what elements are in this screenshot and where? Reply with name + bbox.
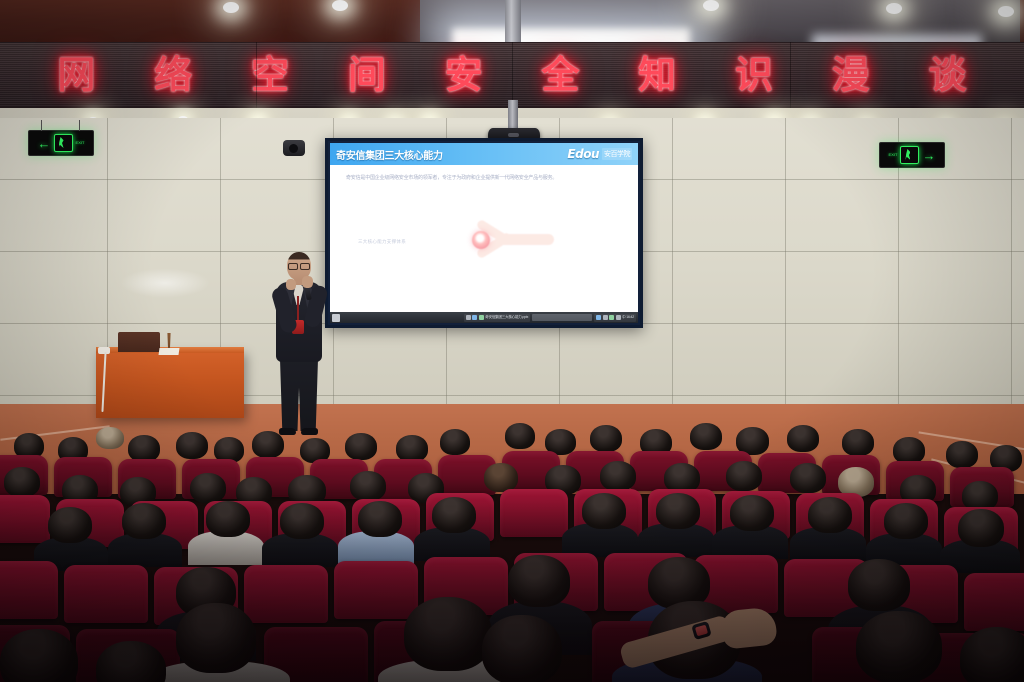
audience-head <box>396 435 428 462</box>
slide: 奇安信集团三大核心能力 Edou 安百学院 奇安信是中国企业级网络安全市场的领军… <box>330 143 638 323</box>
tray-icon[interactable] <box>616 315 621 320</box>
audience-head <box>440 429 470 455</box>
spotlight <box>998 6 1014 17</box>
running-man-icon <box>54 134 73 152</box>
audience-head <box>842 429 874 456</box>
arrow-shaft <box>496 234 554 245</box>
led-char: 网 <box>57 56 95 94</box>
audience-head <box>0 629 78 682</box>
spotlight <box>223 2 239 13</box>
audience-head <box>505 423 535 449</box>
arrow-node-icon <box>472 231 490 249</box>
audience-head <box>582 493 626 529</box>
banner-seam <box>256 42 257 108</box>
audience-head <box>484 463 518 492</box>
audience-head <box>726 461 762 491</box>
theater-seat <box>334 561 418 619</box>
audience-head <box>590 425 622 452</box>
spotlight <box>703 0 719 11</box>
audience-head <box>690 423 722 450</box>
tray-icon[interactable] <box>596 315 601 320</box>
audience-head <box>790 463 826 493</box>
led-char: 全 <box>541 56 579 94</box>
taskbar-window-label: 奇安信集团三大核心能力.pptx <box>485 315 528 320</box>
edou-logo-cn: 安百学院 <box>602 148 632 160</box>
tray-icon[interactable] <box>609 315 614 320</box>
audience-head <box>787 425 819 452</box>
led-char: 漫 <box>832 56 870 94</box>
theater-seat <box>244 565 328 623</box>
audience-head <box>345 433 377 460</box>
theater-seat <box>500 489 568 537</box>
audience-head <box>96 427 124 449</box>
papers <box>159 348 180 355</box>
audience-head <box>808 497 852 533</box>
auditorium-photo: 网 络 空 间 安 全 知 识 漫 谈 ← EXIT EXIT → <box>0 0 1024 682</box>
banner-seam <box>790 42 791 108</box>
led-char: 知 <box>638 56 676 94</box>
system-tray[interactable]: 中 16:42 <box>594 314 636 322</box>
audience-head <box>848 559 910 611</box>
sign-hanger <box>41 120 42 131</box>
tray-icon[interactable] <box>603 315 608 320</box>
slide-lead-text: 奇安信是中国企业级网络安全市场的领军者，专注于为政府和企业提供新一代网络安全产品… <box>346 175 624 183</box>
app-icon[interactable] <box>466 315 471 320</box>
banner-seam <box>512 42 513 108</box>
audience-head <box>404 597 492 671</box>
wall-speaker <box>283 140 305 156</box>
wall-light-reflection <box>120 268 210 298</box>
audience-head <box>358 501 402 537</box>
right-arrow-icon: → <box>922 149 935 162</box>
audience-head <box>4 467 40 497</box>
right-exit-sign: EXIT → <box>879 142 945 168</box>
left-arrow-icon: ← <box>38 137 51 150</box>
audience-head <box>128 435 160 462</box>
led-char: 络 <box>154 56 192 94</box>
arrow-graphic <box>468 217 560 263</box>
theater-seat <box>0 495 50 543</box>
audience-head <box>856 611 942 682</box>
speaker-lanyard <box>297 296 299 322</box>
audience-head <box>252 431 284 458</box>
audience-head <box>884 503 928 539</box>
taskbar-window-group[interactable]: 奇安信集团三大核心能力.pptx <box>464 314 530 322</box>
audience-head <box>350 471 386 501</box>
theater-seat <box>0 561 58 619</box>
audience-head <box>176 432 208 459</box>
speaker-person <box>268 252 330 440</box>
audience-head <box>122 503 166 539</box>
led-char: 间 <box>348 56 386 94</box>
theater-seat <box>64 565 148 623</box>
audience-head <box>730 495 774 531</box>
edou-logo-text: Edou <box>567 148 599 160</box>
audience-head <box>958 509 1004 547</box>
audience-head <box>960 627 1024 682</box>
audience-head <box>280 503 324 539</box>
spotlight <box>886 3 902 14</box>
audience-head <box>176 603 256 673</box>
windows-taskbar[interactable]: 奇安信集团三大核心能力.pptx 中 16:42 <box>330 312 638 323</box>
audience-head <box>893 437 925 464</box>
audience-head <box>190 473 226 503</box>
audience-head <box>946 441 978 468</box>
app-icon[interactable] <box>472 315 477 320</box>
theater-seat <box>964 573 1024 631</box>
slide-logo: Edou 安百学院 <box>567 148 632 160</box>
running-man-icon <box>900 146 919 164</box>
slide-title: 奇安信集团三大核心能力 <box>336 147 443 162</box>
speaker-hand-left <box>286 279 296 290</box>
slide-body: 奇安信是中国企业级网络安全市场的领军者，专注于为政府和企业提供新一代网络安全产品… <box>330 165 638 323</box>
tray-clock: 中 16:42 <box>622 315 634 320</box>
audience-head <box>482 615 562 682</box>
left-exit-sign: ← EXIT <box>28 130 94 156</box>
led-char: 识 <box>735 56 773 94</box>
led-char: 谈 <box>929 56 967 94</box>
start-button-icon[interactable] <box>332 314 340 322</box>
led-char: 安 <box>445 56 483 94</box>
podium <box>96 350 244 418</box>
speaker-hand-right <box>302 276 313 288</box>
taskbar-active-window[interactable] <box>532 314 592 321</box>
exit-label: EXIT <box>76 141 85 145</box>
audience-head <box>508 555 570 607</box>
app-icon[interactable] <box>479 315 484 320</box>
slide-sub-text: 三大核心能力支撑体系 <box>358 239 406 245</box>
audience-area <box>0 415 1024 682</box>
exit-label: EXIT <box>889 153 898 157</box>
sign-hanger <box>79 120 80 131</box>
audience-head <box>206 501 250 537</box>
projection-screen: 奇安信集团三大核心能力 Edou 安百学院 奇安信是中国企业级网络安全市场的领军… <box>325 138 643 328</box>
spotlight <box>332 0 348 11</box>
audience-head <box>656 493 700 529</box>
laptop <box>118 332 160 352</box>
audience-head <box>600 461 636 491</box>
glasses-icon <box>288 263 310 268</box>
audience-head <box>48 507 92 543</box>
slide-header: 奇安信集团三大核心能力 Edou 安百学院 <box>330 143 638 165</box>
audience-head <box>432 497 476 533</box>
watch-face <box>695 625 708 637</box>
